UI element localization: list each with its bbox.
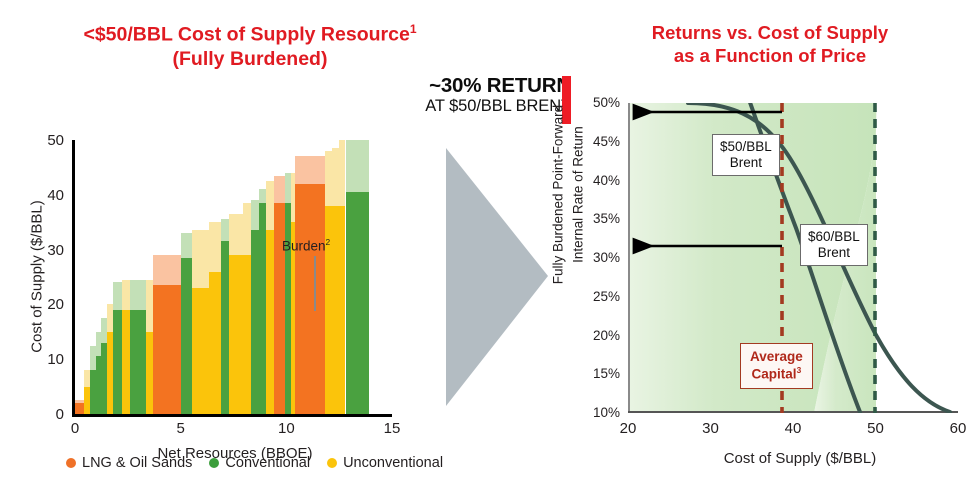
supply-cost-bar [192, 230, 210, 414]
bar-base-segment [346, 192, 369, 414]
right-chart-title-line2: as a Function of Price [674, 45, 866, 66]
legend-swatch-icon [327, 458, 337, 468]
bar-base-segment [209, 272, 221, 414]
legend-swatch-icon [209, 458, 219, 468]
legend-item-1[interactable]: LNG & Oil Sands [66, 455, 192, 471]
right-chart-title-line1: Returns vs. Cost of Supply [652, 22, 888, 43]
right-chart-y-tick: 30% [580, 251, 620, 265]
left-chart-x-tick: 0 [60, 420, 90, 437]
supply-cost-bar-chart: Cost of Supply ($/BBL) 50403020100 05101… [0, 120, 440, 480]
supply-cost-bar [339, 140, 346, 414]
right-chart-x-tick: 50 [861, 420, 891, 437]
supply-cost-bar [75, 400, 84, 414]
burden-annotation: Burden2 [282, 237, 330, 254]
bar-base-segment [229, 255, 243, 414]
left-chart-plot-area [75, 140, 392, 414]
left-chart-y-axis-label: Cost of Supply ($/BBL) [29, 182, 46, 372]
left-chart-title-line1: <$50/BBL Cost of Supply Resource [83, 24, 409, 46]
supply-cost-bar [332, 148, 339, 414]
callout-50-bbl-brent: $50/BBL Brent [712, 134, 780, 176]
left-chart-title: <$50/BBL Cost of Supply Resource1 (Fully… [40, 22, 460, 71]
bar-base-segment [243, 255, 251, 414]
legend-item-label: Unconventional [343, 455, 443, 471]
right-chart-y-axis-label-line1: Fully Burdened Point-Forward [550, 105, 565, 284]
burden-annotation-leader-line [314, 256, 316, 311]
avg-capital-line1: Average [750, 349, 803, 364]
bar-base-segment [221, 241, 229, 414]
legend-item-2[interactable]: Conventional [209, 455, 310, 471]
right-chart-x-tick: 30 [696, 420, 726, 437]
right-chart-x-tick: 40 [778, 420, 808, 437]
supply-cost-bar [107, 304, 114, 414]
right-chart-y-tick: 15% [580, 367, 620, 381]
funnel-arrow-icon [440, 148, 555, 408]
callout-50-line1: $50/BBL [720, 139, 772, 154]
bar-base-segment [295, 184, 325, 414]
supply-cost-bar [229, 214, 243, 414]
right-chart-y-tick: 35% [580, 212, 620, 226]
supply-cost-bar [266, 181, 274, 414]
right-chart-y-tick: 50% [580, 96, 620, 110]
callout-60-line2: Brent [818, 245, 850, 260]
bar-base-segment [192, 288, 210, 414]
return-callout-subline: AT $50/BBL BRENT [396, 97, 571, 116]
bar-base-segment [122, 310, 130, 414]
callout-60-bbl-brent: $60/BBL Brent [800, 224, 868, 266]
bar-base-segment [339, 206, 346, 414]
right-chart-y-tick: 40% [580, 174, 620, 188]
legend-item-label: LNG & Oil Sands [82, 455, 192, 471]
bar-base-segment [146, 332, 153, 414]
avg-capital-line2: Capital [752, 367, 797, 382]
supply-cost-bar [209, 222, 221, 414]
supply-cost-bar [259, 189, 266, 414]
right-chart-x-tick: 20 [613, 420, 643, 437]
return-callout: ~30% RETURN AT $50/BBL BRENT [396, 74, 571, 116]
left-chart-y-tick: 40 [30, 188, 64, 203]
bar-base-segment [107, 332, 114, 414]
avg-capital-superscript: 3 [797, 365, 802, 375]
bar-base-segment [75, 403, 84, 414]
return-callout-headline: ~30% RETURN [396, 74, 571, 98]
supply-cost-bar [346, 140, 369, 414]
left-chart-x-axis-line [72, 414, 392, 417]
left-chart-y-tick: 30 [30, 243, 64, 258]
bar-base-segment [266, 230, 274, 414]
callout-average-capital: Average Capital3 [740, 343, 813, 389]
supply-cost-bar [122, 280, 130, 414]
bar-base-segment [113, 310, 121, 414]
supply-cost-bar [153, 255, 180, 414]
left-chart-x-tick: 15 [377, 420, 407, 437]
right-chart-x-axis-label: Cost of Supply ($/BBL) [660, 450, 940, 467]
supply-cost-bar [130, 280, 146, 414]
left-chart-y-tick: 20 [30, 297, 64, 312]
legend-item-label: Conventional [225, 455, 310, 471]
callout-60-line1: $60/BBL [808, 229, 860, 244]
supply-cost-bar [243, 203, 251, 414]
left-chart-legend: LNG & Oil SandsConventionalUnconventiona… [66, 455, 443, 471]
supply-cost-bar [113, 282, 121, 414]
supply-cost-bar [295, 156, 325, 414]
bar-base-segment [130, 310, 146, 414]
supply-cost-bar [251, 200, 259, 414]
legend-item-3[interactable]: Unconventional [327, 455, 443, 471]
supply-cost-bar [146, 280, 153, 414]
bar-base-segment [251, 230, 259, 414]
right-chart-title: Returns vs. Cost of Supply as a Function… [600, 22, 940, 68]
left-chart-y-tick: 10 [30, 352, 64, 367]
right-chart-y-tick: 45% [580, 135, 620, 149]
supply-cost-bar [274, 176, 285, 414]
callout-50-line2: Brent [730, 155, 762, 170]
bar-base-segment [274, 203, 285, 414]
bar-base-segment [153, 285, 180, 414]
right-chart-x-tick: 60 [943, 420, 969, 437]
right-chart-y-tick: 20% [580, 329, 620, 343]
supply-cost-bar [221, 219, 229, 414]
right-chart-y-tick: 25% [580, 290, 620, 304]
left-chart-y-tick: 50 [30, 133, 64, 148]
left-chart-title-line2: (Fully Burdened) [173, 48, 328, 70]
bar-base-segment [259, 203, 266, 414]
left-chart-title-superscript: 1 [410, 22, 417, 36]
right-chart-y-axis-label: Fully Burdened Point-Forward Internal Ra… [548, 75, 587, 315]
bar-base-segment [332, 206, 339, 414]
right-chart-y-tick: 10% [580, 406, 620, 420]
left-chart-x-tick: 5 [166, 420, 196, 437]
left-chart-y-tick: 0 [30, 407, 64, 422]
left-chart-x-tick: 10 [271, 420, 301, 437]
legend-swatch-icon [66, 458, 76, 468]
